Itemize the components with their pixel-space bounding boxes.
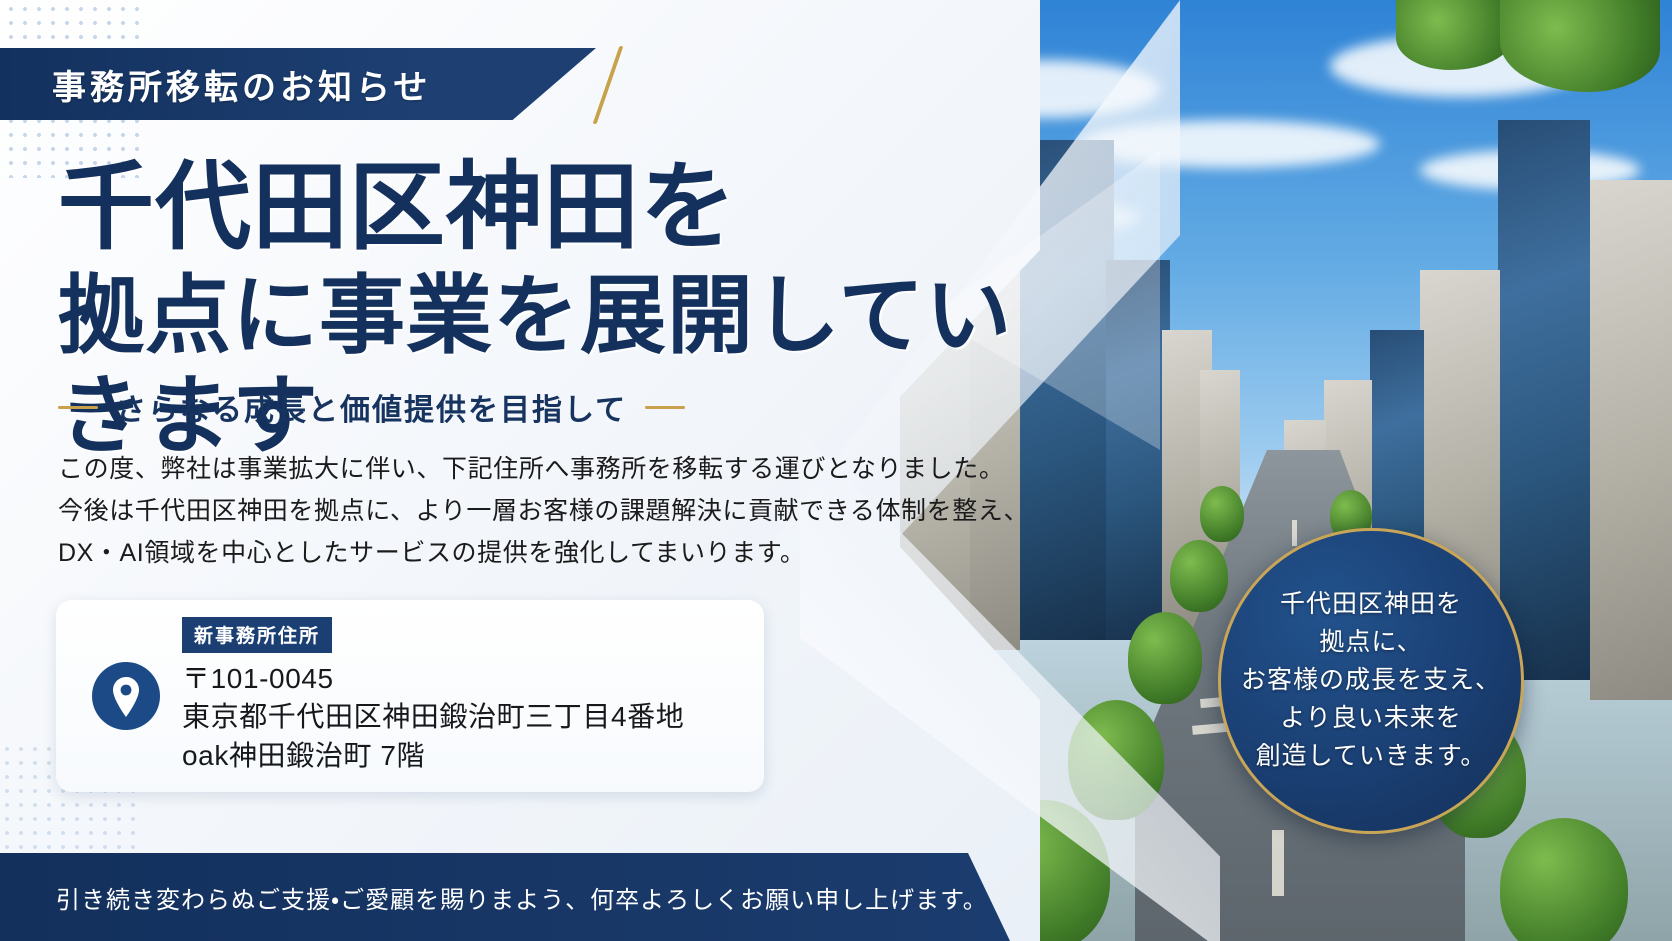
footer-bar: 引き続き変わらぬご支援・ご愛顧を賜りまよう、何卒よろしくお願い申し上げます。	[0, 853, 1010, 941]
dash-left-icon	[58, 406, 98, 409]
seal-line: お客様の成長を支え、	[1241, 662, 1501, 700]
building	[1498, 120, 1590, 680]
office-relocation-banner: 事務所移転のお知らせ 千代田区神田を 拠点に事業を展開していきます さらなる成長…	[0, 0, 1672, 941]
seal-line: 創造していきます。	[1256, 738, 1487, 776]
notice-ribbon: 事務所移転のお知らせ	[0, 48, 596, 120]
address-tag: 新事務所住所	[182, 617, 332, 653]
body-line: この度、弊社は事業拡大に伴い、下記住所へ事務所を移転する運びとなりました。	[58, 448, 1008, 490]
address-line: 東京都千代田区神田鍛治町三丁目4番地	[182, 698, 684, 737]
dash-right-icon	[645, 406, 685, 409]
map-pin-icon	[92, 662, 160, 730]
lane-marking	[1272, 830, 1284, 896]
address-line: oak神田鍛治町 7階	[182, 737, 684, 776]
body-copy: この度、弊社は事業拡大に伴い、下記住所へ事務所を移転する運びとなりました。 今後…	[58, 448, 1008, 574]
headline-line-2: 拠点に事業を展開していきます	[58, 267, 1018, 467]
address-line: 〒101-0045	[182, 660, 684, 699]
mission-seal-badge: 千代田区神田を 拠点に、 お客様の成長を支え、 より良い未来を 創造していきます…	[1218, 528, 1524, 834]
subtitle-block: さらなる成長と価値提供を目指して	[58, 385, 685, 429]
ribbon-label: 事務所移転のお知らせ	[0, 60, 431, 109]
footer-text: 引き続き変わらぬご支援・ご愛顧を賜りまよう、何卒よろしくお願い申し上げます。	[0, 880, 988, 915]
street-tree	[1200, 486, 1244, 542]
headline-line-1: 千代田区神田を	[58, 152, 1018, 263]
subtitle-text: さらなる成長と価値提供を目指して	[116, 385, 627, 429]
seal-line: より良い未来を	[1280, 700, 1462, 738]
body-line: DX・AI領域を中心としたサービスの提供を強化してまいります。	[58, 532, 1008, 574]
address-body: 新事務所住所 〒101-0045 東京都千代田区神田鍛治町三丁目4番地 oak神…	[182, 617, 684, 776]
street-tree	[1170, 540, 1228, 612]
street-tree	[1128, 612, 1202, 704]
seal-line: 拠点に、	[1319, 624, 1422, 662]
seal-line: 千代田区神田を	[1280, 586, 1462, 624]
building	[1590, 180, 1672, 700]
body-line: 今後は千代田区神田を拠点に、より一層お客様の課題解決に貢献できる体制を整え、	[58, 490, 1008, 532]
address-card: 新事務所住所 〒101-0045 東京都千代田区神田鍛治町三丁目4番地 oak神…	[56, 600, 764, 792]
lane-marking	[1292, 520, 1297, 546]
